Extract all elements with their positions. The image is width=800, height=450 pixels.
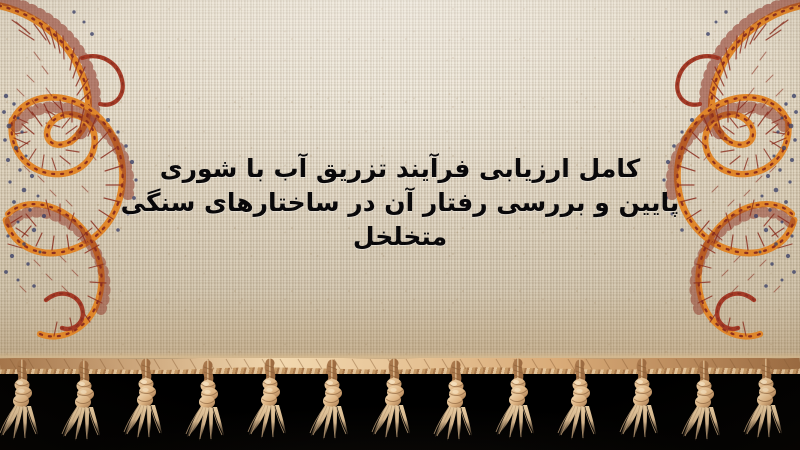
title-line-2: پایین و بررسی رفتار آن در ساختارهای سنگی bbox=[0, 186, 800, 220]
page-title: کامل ارزیابی فرآیند تزریق آب با شوری پای… bbox=[0, 152, 800, 254]
title-line-3: متخلخل bbox=[0, 220, 800, 254]
title-card-canvas: کامل ارزیابی فرآیند تزریق آب با شوری پای… bbox=[0, 0, 800, 450]
tassel-fringe bbox=[0, 358, 800, 450]
title-line-1: کامل ارزیابی فرآیند تزریق آب با شوری bbox=[0, 152, 800, 186]
